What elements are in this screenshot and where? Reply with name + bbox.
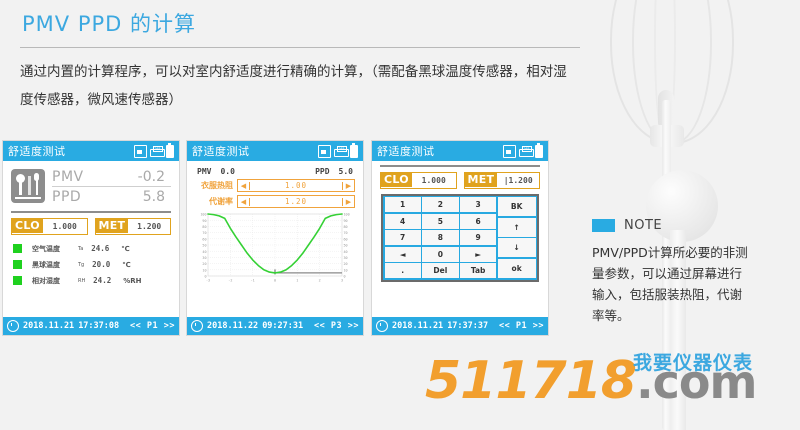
measurement-value: 24.6 <box>83 244 109 253</box>
svg-text:20: 20 <box>202 262 206 266</box>
key-ok[interactable]: ok <box>498 259 536 278</box>
device3-titlebar: 舒适度测试 265 <box>372 141 548 161</box>
clothing-resistance-label: 衣服热阻 <box>195 180 233 191</box>
probe-tip <box>658 90 674 130</box>
pmv-value: 0.0 <box>220 167 234 176</box>
svg-text:100: 100 <box>200 213 206 217</box>
status-indicator-icon <box>13 244 22 253</box>
device1-statusbar: 2018.11.21 17:37:08 << P1 >> <box>3 317 179 335</box>
clo-chip-label: CLO <box>12 219 43 233</box>
key-tab[interactable]: Tab <box>460 263 496 278</box>
svg-text:30: 30 <box>202 256 206 260</box>
key-arrow-down[interactable]: ↓ <box>498 238 536 257</box>
keypad-row: 4 5 6 <box>385 214 497 229</box>
device3-body: CLO 1.000 MET |1.200 1 2 3 4 5 <box>372 161 548 317</box>
key-decimal-point[interactable]: . <box>385 263 421 278</box>
key-8[interactable]: 8 <box>422 230 458 245</box>
measurement-value: 20.0 <box>84 260 110 269</box>
svg-text:30: 30 <box>344 256 348 260</box>
keypad-main-grid: 1 2 3 4 5 6 7 8 9 ◄ <box>385 197 497 278</box>
comfort-probe-icon <box>11 169 45 203</box>
svg-text:1: 1 <box>296 279 298 283</box>
note-header: NOTE <box>592 218 752 233</box>
svg-text:50: 50 <box>344 244 348 248</box>
reading-row-ppd: PPD 5.8 <box>52 187 171 206</box>
keypad-side-column: BK ↑ ↓ ok <box>498 197 536 278</box>
device3-parameter-chips: CLO 1.000 MET |1.200 <box>372 167 548 189</box>
device2-body: PMV 0.0 PPD 5.0 衣服热阻 ◀ 1.00 ▶ 代谢率 ◀ 1.20… <box>187 161 363 317</box>
pmv-label: PMV <box>197 167 211 176</box>
reading-row-pmv: PMV -0.2 <box>52 167 171 187</box>
ppd-label: PPD <box>52 189 81 205</box>
svg-text:-3: -3 <box>206 279 210 283</box>
measurement-unit: ℃ <box>121 245 129 253</box>
device1-title: 舒适度测试 <box>8 143 134 159</box>
measurement-name: 黑球温度 <box>32 260 78 270</box>
decrement-arrow-icon[interactable]: ◀ <box>238 182 250 190</box>
probe-icon-ball-stem <box>19 181 21 195</box>
svg-text:80: 80 <box>344 225 348 229</box>
watermark-number: 511718 <box>425 351 636 411</box>
ppd-value: 5.0 <box>339 167 353 176</box>
keypad-row: . Del Tab <box>385 263 497 278</box>
device3-statusbar: 2018.11.21 17:37:37 << P1 >> <box>372 317 548 335</box>
key-6[interactable]: 6 <box>460 214 496 229</box>
device2-time: 09:27:31 <box>262 321 303 331</box>
met-chip-value: 1.200 <box>128 222 170 231</box>
probe-collar <box>650 125 684 147</box>
svg-text:40: 40 <box>202 250 206 254</box>
key-0[interactable]: 0 <box>422 247 458 262</box>
svg-text:90: 90 <box>202 219 206 223</box>
print-icon[interactable]: 265 <box>334 146 347 157</box>
device2-readouts: PMV 0.0 PPD 5.0 <box>187 161 363 176</box>
clo-chip-value: 1.000 <box>43 222 87 231</box>
clothing-resistance-value: 1.00 <box>250 181 342 190</box>
readout-ppd: PPD 5.0 <box>315 167 353 176</box>
page-title: PMV PPD 的计算 <box>22 8 196 38</box>
device2-statusbar: 2018.11.22 09:27:31 << P3 >> <box>187 317 363 335</box>
readout-pmv: PMV 0.0 <box>197 167 235 176</box>
device1-titlebar: 舒适度测试 265 <box>3 141 179 161</box>
device1-body: PMV -0.2 PPD 5.8 CLO 1.000 MET 1.200 <box>3 161 179 317</box>
device1-parameter-chips: CLO 1.000 MET 1.200 <box>3 213 179 235</box>
device2-status-icons: 265 <box>318 145 358 158</box>
measurement-name: 相对湿度 <box>32 276 78 286</box>
keypad-row: ◄ 0 ► <box>385 247 497 262</box>
probe-icon-bar <box>28 176 31 195</box>
svg-text:20: 20 <box>344 262 348 266</box>
clock-icon <box>7 320 19 332</box>
svg-text:10: 10 <box>344 268 348 272</box>
device1-readings: PMV -0.2 PPD 5.8 <box>52 167 171 206</box>
clo-chip-value: 1.000 <box>412 176 456 185</box>
svg-text:90: 90 <box>344 219 348 223</box>
device3-title: 舒适度测试 <box>377 143 503 159</box>
svg-text:70: 70 <box>344 231 348 235</box>
key-arrow-up[interactable]: ↑ <box>498 218 536 237</box>
print-icon-body <box>334 149 349 157</box>
note-body: PMV/PPD计算所必要的非测量参数，可以通过屏幕进行输入，包括服装热阻，代谢率… <box>592 242 752 326</box>
key-5[interactable]: 5 <box>422 214 458 229</box>
battery-icon <box>350 145 358 158</box>
probe-cage-outer <box>610 0 734 144</box>
print-icon-body <box>150 149 165 157</box>
battery-icon <box>166 145 174 158</box>
clo-chip[interactable]: CLO 1.000 <box>380 172 457 189</box>
ppd-pmv-chart: 0010102020303040405050606070708080909010… <box>192 211 358 286</box>
key-1[interactable]: 1 <box>385 197 421 212</box>
svg-text:80: 80 <box>202 225 206 229</box>
measurement-unit: %RH <box>123 277 141 285</box>
print-icon[interactable]: 265 <box>150 146 163 157</box>
print-icon[interactable]: 265 <box>519 146 532 157</box>
probe-cage-inner <box>654 0 676 138</box>
key-arrow-right[interactable]: ► <box>460 247 496 262</box>
intro-paragraph: 通过内置的计算程序，可以对室内舒适度进行精确的计算，（需配备黑球温度传感器，相对… <box>20 58 580 114</box>
note-swatch-icon <box>592 219 615 232</box>
battery-icon <box>535 145 543 158</box>
increment-arrow-icon[interactable]: ▶ <box>342 198 354 206</box>
note-panel: NOTE PMV/PPD计算所必要的非测量参数，可以通过屏幕进行输入，包括服装热… <box>592 218 752 326</box>
svg-text:100: 100 <box>344 213 350 217</box>
clock-icon <box>191 320 203 332</box>
probe-icon-cap-stem <box>36 180 38 195</box>
clothing-resistance-box[interactable]: ◀ 1.00 ▶ <box>237 179 355 192</box>
page-title-latin: PMV PPD <box>22 12 122 36</box>
pmv-value: -0.2 <box>138 169 171 185</box>
device1-status-icons: 265 <box>134 145 174 158</box>
device1-time: 17:37:08 <box>78 321 119 331</box>
metabolic-rate-box[interactable]: ◀ 1.20 ▶ <box>237 195 355 208</box>
device-screen-chart: 舒适度测试 265 PMV 0.0 PPD 5.0 衣服热阻 ◀ 1 <box>186 140 364 336</box>
keypad-row: 1 2 3 <box>385 197 497 212</box>
key-backspace[interactable]: BK <box>498 197 536 216</box>
measurement-row: 黑球温度 Tg 20.0 ℃ <box>13 257 169 273</box>
svg-text:60: 60 <box>344 237 348 241</box>
key-9[interactable]: 9 <box>460 230 496 245</box>
keypad-row: 7 8 9 <box>385 230 497 245</box>
metabolic-rate-label: 代谢率 <box>195 196 233 207</box>
device2-titlebar: 舒适度测试 265 <box>187 141 363 161</box>
save-icon[interactable] <box>134 145 147 158</box>
note-heading: NOTE <box>624 218 662 233</box>
device3-pager[interactable]: << P1 >> <box>499 321 544 331</box>
measurement-row: 相对湿度 RH 24.2 %RH <box>13 273 169 289</box>
key-7[interactable]: 7 <box>385 230 421 245</box>
save-icon[interactable] <box>503 145 516 158</box>
chart-canvas: 0010102020303040405050606070708080909010… <box>192 211 358 286</box>
key-delete[interactable]: Del <box>422 263 458 278</box>
clo-chip-label: CLO <box>381 173 412 187</box>
ppd-label: PPD <box>315 167 329 176</box>
clock-icon <box>376 320 388 332</box>
ppd-value: 5.8 <box>143 189 171 205</box>
increment-arrow-icon[interactable]: ▶ <box>342 182 354 190</box>
print-icon-body <box>519 149 534 157</box>
svg-text:50: 50 <box>202 244 206 248</box>
key-3[interactable]: 3 <box>460 197 496 212</box>
measurement-unit: ℃ <box>122 261 130 269</box>
measurement-value: 24.2 <box>85 276 111 285</box>
status-indicator-icon <box>13 260 22 269</box>
svg-text:40: 40 <box>344 250 348 254</box>
device3-time: 17:37:37 <box>447 321 488 331</box>
key-2[interactable]: 2 <box>422 197 458 212</box>
svg-text:10: 10 <box>202 268 206 272</box>
device1-pager[interactable]: << P1 >> <box>130 321 175 331</box>
svg-text:-2: -2 <box>228 279 232 283</box>
svg-text:60: 60 <box>202 237 206 241</box>
device3-date: 2018.11.21 <box>392 321 443 331</box>
svg-text:0: 0 <box>344 275 346 279</box>
page-title-cn: 的计算 <box>130 12 196 36</box>
decrement-arrow-icon[interactable]: ◀ <box>238 198 250 206</box>
met-chip[interactable]: MET |1.200 <box>464 172 541 189</box>
device-screen-keypad: 舒适度测试 265 CLO 1.000 MET |1.200 <box>371 140 549 336</box>
device2-title: 舒适度测试 <box>192 143 318 159</box>
met-chip-label: MET <box>465 173 498 187</box>
met-chip[interactable]: MET 1.200 <box>95 218 172 235</box>
status-indicator-icon <box>13 276 22 285</box>
svg-text:-1: -1 <box>251 279 255 283</box>
pmv-label: PMV <box>52 169 84 185</box>
key-arrow-left[interactable]: ◄ <box>385 247 421 262</box>
watermark: 511718.com 我要仪器仪表 <box>425 352 756 410</box>
svg-text:2: 2 <box>319 279 321 283</box>
probe-cage-middle <box>632 0 712 144</box>
device1-summary: PMV -0.2 PPD 5.8 <box>3 161 179 206</box>
watermark-cn-text: 我要仪器仪表 <box>633 348 753 375</box>
met-chip-value: |1.200 <box>497 176 539 185</box>
title-divider <box>20 47 580 48</box>
device1-measurement-list: 空气温度 Ta 24.6 ℃ 黑球温度 Tg 20.0 ℃ 相对湿度 RH 24… <box>3 235 179 289</box>
metabolic-rate-spinner[interactable]: 代谢率 ◀ 1.20 ▶ <box>187 192 363 208</box>
device3-status-icons: 265 <box>503 145 543 158</box>
measurement-row: 空气温度 Ta 24.6 ℃ <box>13 241 169 257</box>
key-4[interactable]: 4 <box>385 214 421 229</box>
numeric-keypad: 1 2 3 4 5 6 7 8 9 ◄ <box>381 194 539 282</box>
measurement-symbol: RH <box>78 278 85 284</box>
svg-text:0: 0 <box>274 279 276 283</box>
device2-pager[interactable]: << P3 >> <box>314 321 359 331</box>
met-chip-label: MET <box>96 219 129 233</box>
svg-text:70: 70 <box>202 231 206 235</box>
device-screen-measurement: 舒适度测试 265 PMV -0.2 <box>2 140 180 336</box>
device1-date: 2018.11.21 <box>23 321 74 331</box>
svg-text:3: 3 <box>341 279 343 283</box>
save-icon[interactable] <box>318 145 331 158</box>
clo-chip[interactable]: CLO 1.000 <box>11 218 88 235</box>
clothing-resistance-spinner[interactable]: 衣服热阻 ◀ 1.00 ▶ <box>187 176 363 192</box>
probe-icon-base <box>15 197 41 200</box>
device2-date: 2018.11.22 <box>207 321 258 331</box>
metabolic-rate-value: 1.20 <box>250 197 342 206</box>
measurement-name: 空气温度 <box>32 244 78 254</box>
